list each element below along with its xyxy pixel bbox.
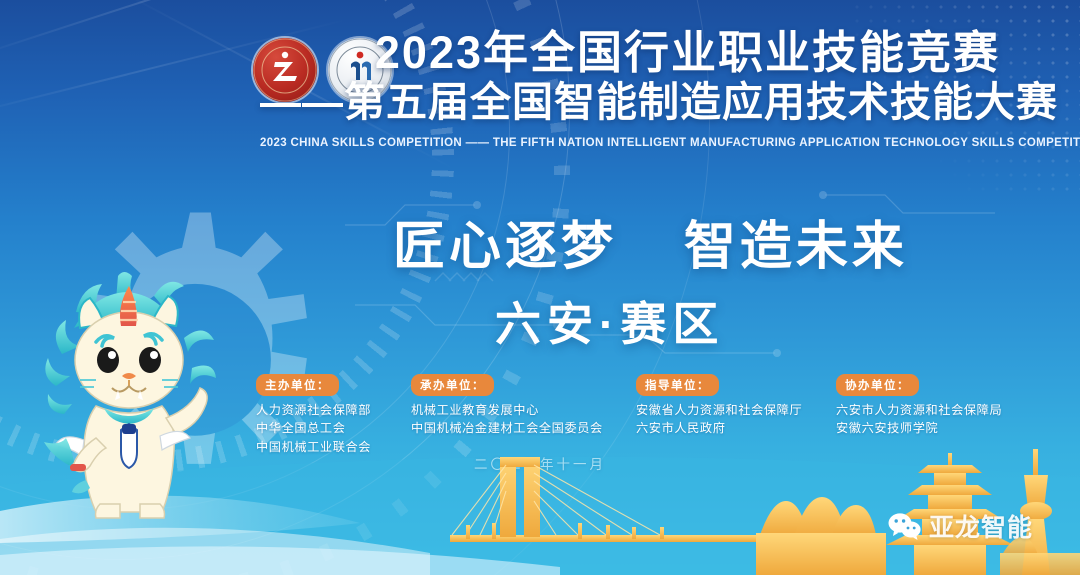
status-badge: 承办单位： [411,374,494,396]
slogan-part-2: 智造未来 [684,218,908,276]
region-name: 六安·赛区 [495,288,724,354]
status-badge: 主办单位： [256,374,339,396]
status-badge: 指导单位： [636,374,719,396]
competition-poster: 2023年全国行业职业技能竞赛 ——第五届全国智能制造应用技术技能大赛 2023… [0,0,1080,575]
page-subtitle: ——第五届全国智能制造应用技术技能大赛 [260,77,1000,128]
english-subtitle: 2023 CHINA SKILLS COMPETITION —— THE FIF… [260,137,1000,149]
mascot-cat-figure [34,268,224,523]
wechat-icon [888,512,922,541]
watermark-text: 亚龙智能 [929,508,1033,544]
slogan-part-1: 匠心逐梦 [393,218,617,276]
page-title: 2023年全国行业职业技能竞赛 [260,26,1000,79]
status-badge: 协办单位： [836,374,919,396]
slogan: 匠心逐梦 智造未来 [393,204,908,279]
title-block: 2023年全国行业职业技能竞赛 ——第五届全国智能制造应用技术技能大赛 2023… [260,26,1000,149]
watermark: 亚龙智能 [888,508,1033,544]
